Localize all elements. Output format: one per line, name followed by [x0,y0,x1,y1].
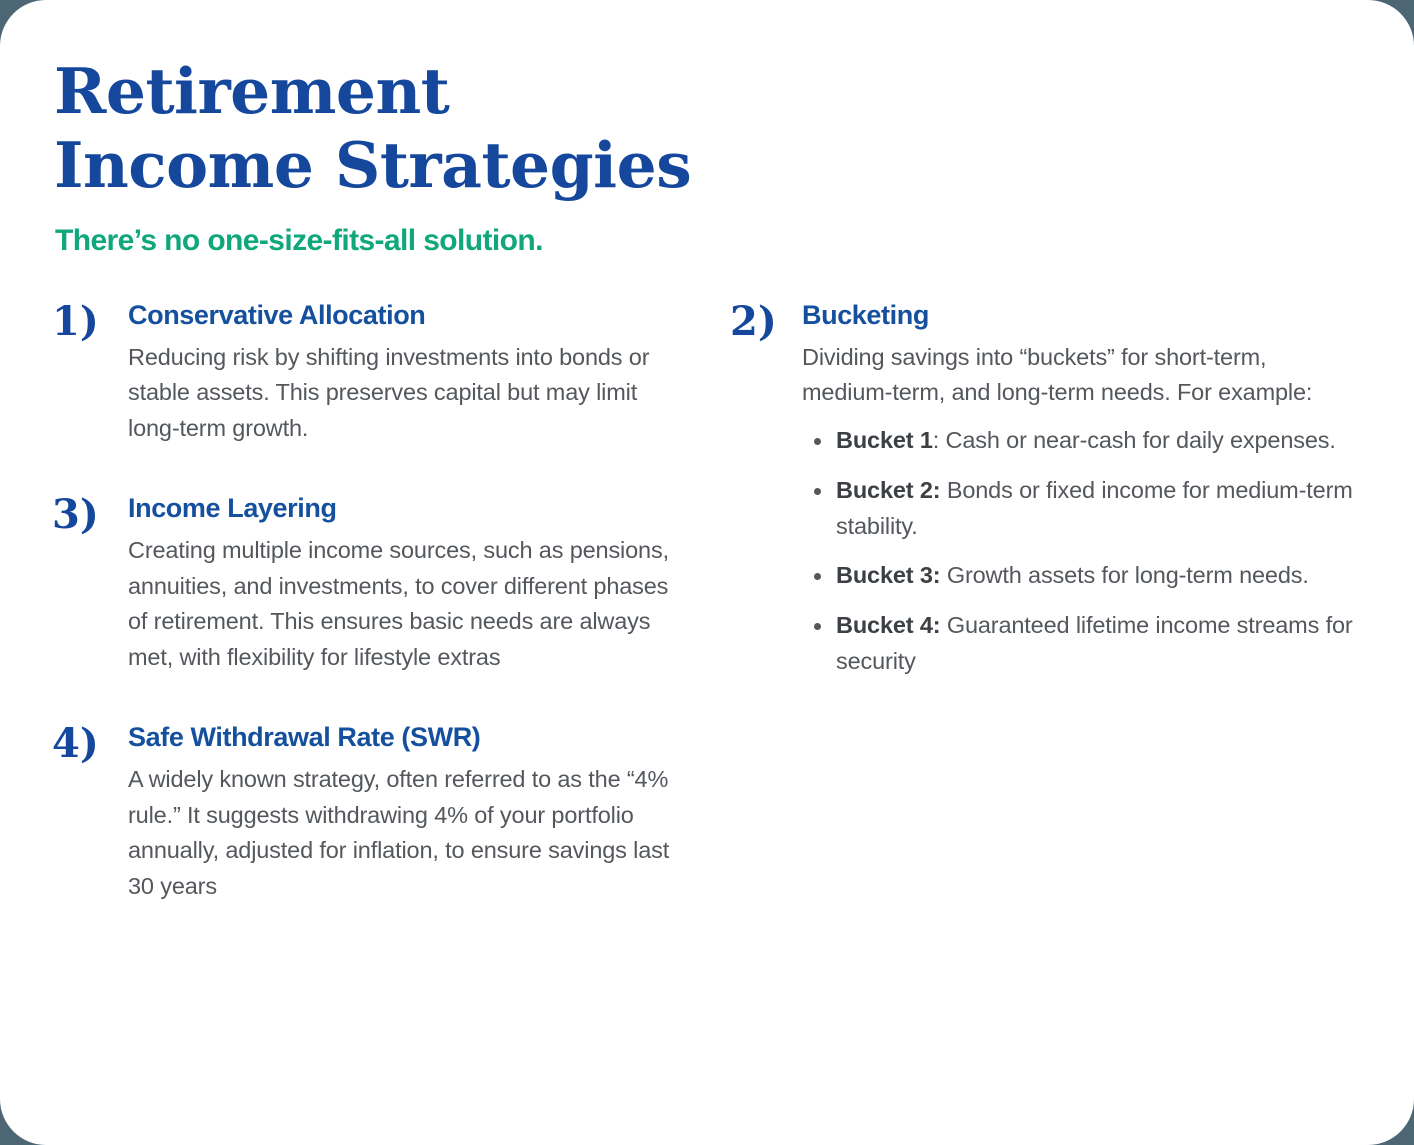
strategy-columns: 1) Conservative Allocation Reducing risk… [52,300,1362,905]
bucket-list: Bucket 1: Cash or near-cash for daily ex… [802,423,1370,679]
strategy-text-4: A widely known strategy, often referred … [128,762,688,905]
strategy-number-4: 4) [52,722,128,764]
slide-card: Retirement Income Strategies There’s no … [0,0,1414,1145]
strategy-body-4: Safe Withdrawal Rate (SWR) A widely know… [128,722,700,905]
strategy-number-2: 2) [730,300,802,342]
strategy-item-1: 1) Conservative Allocation Reducing risk… [52,300,700,447]
strategy-heading-4: Safe Withdrawal Rate (SWR) [128,722,700,753]
bucket-list-item: Bucket 4: Guaranteed lifetime income str… [836,608,1366,679]
bucket-list-item: Bucket 2: Bonds or fixed income for medi… [836,473,1366,544]
strategy-item-4: 4) Safe Withdrawal Rate (SWR) A widely k… [52,722,700,905]
strategy-text-1: Reducing risk by shifting investments in… [128,340,688,447]
strategy-body-3: Income Layering Creating multiple income… [128,493,700,676]
strategy-body-2: Bucketing Dividing savings into “buckets… [802,300,1370,680]
strategy-heading-2: Bucketing [802,300,1370,331]
strategy-item-3: 3) Income Layering Creating multiple inc… [52,493,700,676]
strategy-text-2: Dividing savings into “buckets” for shor… [802,340,1347,411]
strategy-item-2: 2) Bucketing Dividing savings into “buck… [730,300,1370,680]
bucket-label: Bucket 1 [836,427,933,453]
right-column: 2) Bucketing Dividing savings into “buck… [730,300,1370,905]
strategy-number-1: 1) [52,300,128,342]
page-subtitle: There’s no one-size-fits-all solution. [55,224,1362,258]
strategy-body-1: Conservative Allocation Reducing risk by… [128,300,700,447]
page-title: Retirement Income Strategies [54,62,1362,196]
bucket-list-item: Bucket 3: Growth assets for long-term ne… [836,558,1366,594]
page-title-line-2: Income Strategies [54,136,1362,196]
bucket-description: Growth assets for long-term needs. [940,562,1308,588]
strategy-heading-1: Conservative Allocation [128,300,700,331]
bucket-list-item: Bucket 1: Cash or near-cash for daily ex… [836,423,1366,459]
left-column: 1) Conservative Allocation Reducing risk… [52,300,700,905]
page-title-line-1: Retirement [54,62,1362,122]
bucket-label: Bucket 4: [836,612,940,638]
bucket-label: Bucket 2: [836,477,940,503]
strategy-text-3: Creating multiple income sources, such a… [128,533,688,676]
bucket-description: : Cash or near-cash for daily expenses. [933,427,1336,453]
slide-content: Retirement Income Strategies There’s no … [0,0,1414,1145]
bucket-label: Bucket 3: [836,562,940,588]
strategy-number-3: 3) [52,493,128,535]
strategy-heading-3: Income Layering [128,493,700,524]
